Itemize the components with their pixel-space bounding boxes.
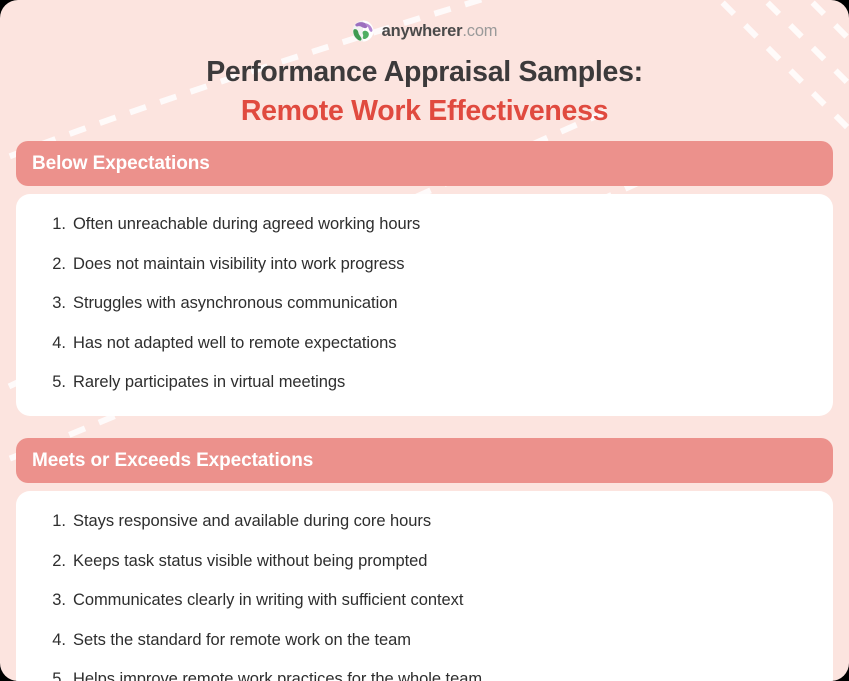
infographic-page: anywherer.com Performance Appraisal Samp… xyxy=(0,0,849,681)
list-item-number: 2. xyxy=(40,551,66,572)
list-item-number: 4. xyxy=(40,630,66,651)
title-line-primary: Performance Appraisal Samples: xyxy=(0,54,849,90)
sections-container: Below Expectations 1. Often unreachable … xyxy=(16,141,833,681)
list-item: 4. Has not adapted well to remote expect… xyxy=(40,333,809,357)
list-item: 3. Struggles with asynchronous communica… xyxy=(40,293,809,317)
section-below-expectations: Below Expectations 1. Often unreachable … xyxy=(16,141,833,416)
section-card-below-expectations: 1. Often unreachable during agreed worki… xyxy=(16,194,833,416)
title-line-secondary: Remote Work Effectiveness xyxy=(0,93,849,129)
list-item-number: 5. xyxy=(40,669,66,681)
list-item: 1. Often unreachable during agreed worki… xyxy=(40,214,809,238)
brand-logo: anywherer.com xyxy=(0,18,849,44)
list-item-text: Keeps task status visible without being … xyxy=(73,551,427,572)
list-item-text: Sets the standard for remote work on the… xyxy=(73,630,411,651)
list-item-text: Does not maintain visibility into work p… xyxy=(73,254,404,275)
list-item: 1. Stays responsive and available during… xyxy=(40,511,809,535)
list-item-number: 3. xyxy=(40,590,66,611)
globe-icon xyxy=(352,20,374,42)
list-item-text: Has not adapted well to remote expectati… xyxy=(73,333,396,354)
list-item-number: 4. xyxy=(40,333,66,354)
section-meets-or-exceeds-expectations: Meets or Exceeds Expectations 1. Stays r… xyxy=(16,438,833,681)
list-item-text: Rarely participates in virtual meetings xyxy=(73,372,345,393)
item-list: 1. Often unreachable during agreed worki… xyxy=(40,214,809,396)
list-item: 2. Keeps task status visible without bei… xyxy=(40,551,809,575)
brand-name: anywherer xyxy=(382,22,463,40)
list-item: 3. Communicates clearly in writing with … xyxy=(40,590,809,614)
section-header-label: Below Expectations xyxy=(32,154,210,173)
list-item-text: Often unreachable during agreed working … xyxy=(73,214,420,235)
brand-wordmark: anywherer.com xyxy=(382,23,498,40)
list-item-text: Stays responsive and available during co… xyxy=(73,511,431,532)
list-item-number: 1. xyxy=(40,214,66,235)
list-item: 4. Sets the standard for remote work on … xyxy=(40,630,809,654)
list-item: 5. Rarely participates in virtual meetin… xyxy=(40,372,809,396)
section-header-meets-or-exceeds-expectations: Meets or Exceeds Expectations xyxy=(16,438,833,483)
list-item-text: Struggles with asynchronous communicatio… xyxy=(73,293,397,314)
section-header-below-expectations: Below Expectations xyxy=(16,141,833,186)
list-item-number: 1. xyxy=(40,511,66,532)
list-item-number: 2. xyxy=(40,254,66,275)
list-item: 5. Helps improve remote work practices f… xyxy=(40,669,809,681)
list-item: 2. Does not maintain visibility into wor… xyxy=(40,254,809,278)
list-item-text: Helps improve remote work practices for … xyxy=(73,669,482,681)
item-list: 1. Stays responsive and available during… xyxy=(40,511,809,681)
list-item-text: Communicates clearly in writing with suf… xyxy=(73,590,463,611)
page-title: Performance Appraisal Samples: Remote Wo… xyxy=(0,54,849,129)
section-header-label: Meets or Exceeds Expectations xyxy=(32,451,313,470)
section-card-meets-or-exceeds-expectations: 1. Stays responsive and available during… xyxy=(16,491,833,681)
list-item-number: 3. xyxy=(40,293,66,314)
list-item-number: 5. xyxy=(40,372,66,393)
brand-tld: .com xyxy=(462,22,497,40)
